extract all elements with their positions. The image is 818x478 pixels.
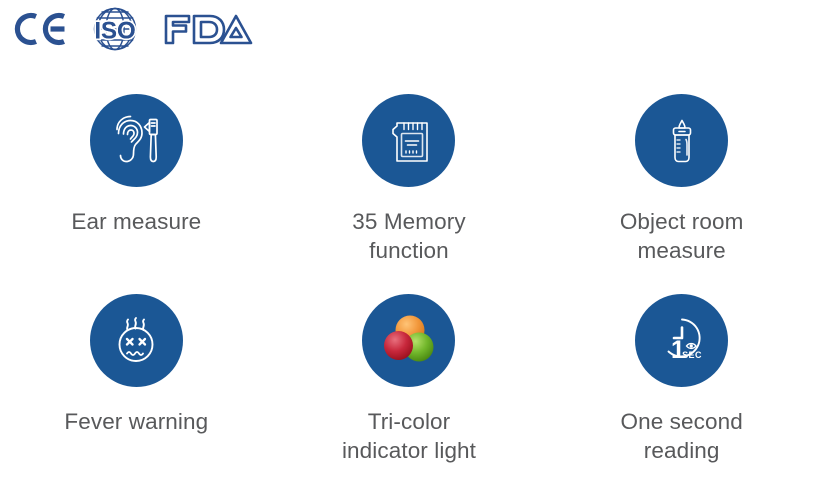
svg-text:ISO: ISO [94,18,135,45]
feature-label: Object room measure [620,207,744,265]
feature-fever-warning[interactable]: Fever warning [0,278,273,478]
fever-face-icon [109,314,163,368]
tri-color-spheres-icon [379,312,439,370]
ear-otoscope-badge [90,94,183,187]
baby-bottle-badge [635,94,728,187]
memory-card-badge [362,94,455,187]
feature-label: 35 Memory function [352,207,465,265]
feature-memory-function[interactable]: 35 Memory function [273,78,546,278]
feature-label: Tri-color indicator light [342,407,476,465]
feature-label: One second reading [620,407,742,465]
tri-color-spheres-badge [362,294,455,387]
fever-face-badge [90,294,183,387]
indicator-red [384,331,413,360]
clock-one-second-badge: 1 SEC [635,294,728,387]
feature-object-room-measure[interactable]: Object room measure [545,78,818,278]
feature-grid: Ear measure [0,78,818,478]
ear-otoscope-icon [108,113,164,169]
feature-one-second-reading[interactable]: 1 SEC One second reading [545,278,818,478]
feature-ear-measure[interactable]: Ear measure [0,78,273,278]
one-second-unit: SEC [682,350,702,360]
certification-strip: ISO ISO [12,6,254,52]
feature-tri-color-indicator[interactable]: Tri-color indicator light [273,278,546,478]
eye-icon [686,343,696,348]
clock-one-second-icon: 1 SEC [654,314,710,368]
fda-mark-icon [162,10,254,48]
baby-bottle-icon [656,115,708,167]
memory-card-icon [383,115,435,167]
feature-label: Ear measure [71,207,201,236]
iso-mark-icon: ISO ISO [84,6,146,52]
ce-mark-icon [12,10,68,48]
feature-label: Fever warning [64,407,208,436]
